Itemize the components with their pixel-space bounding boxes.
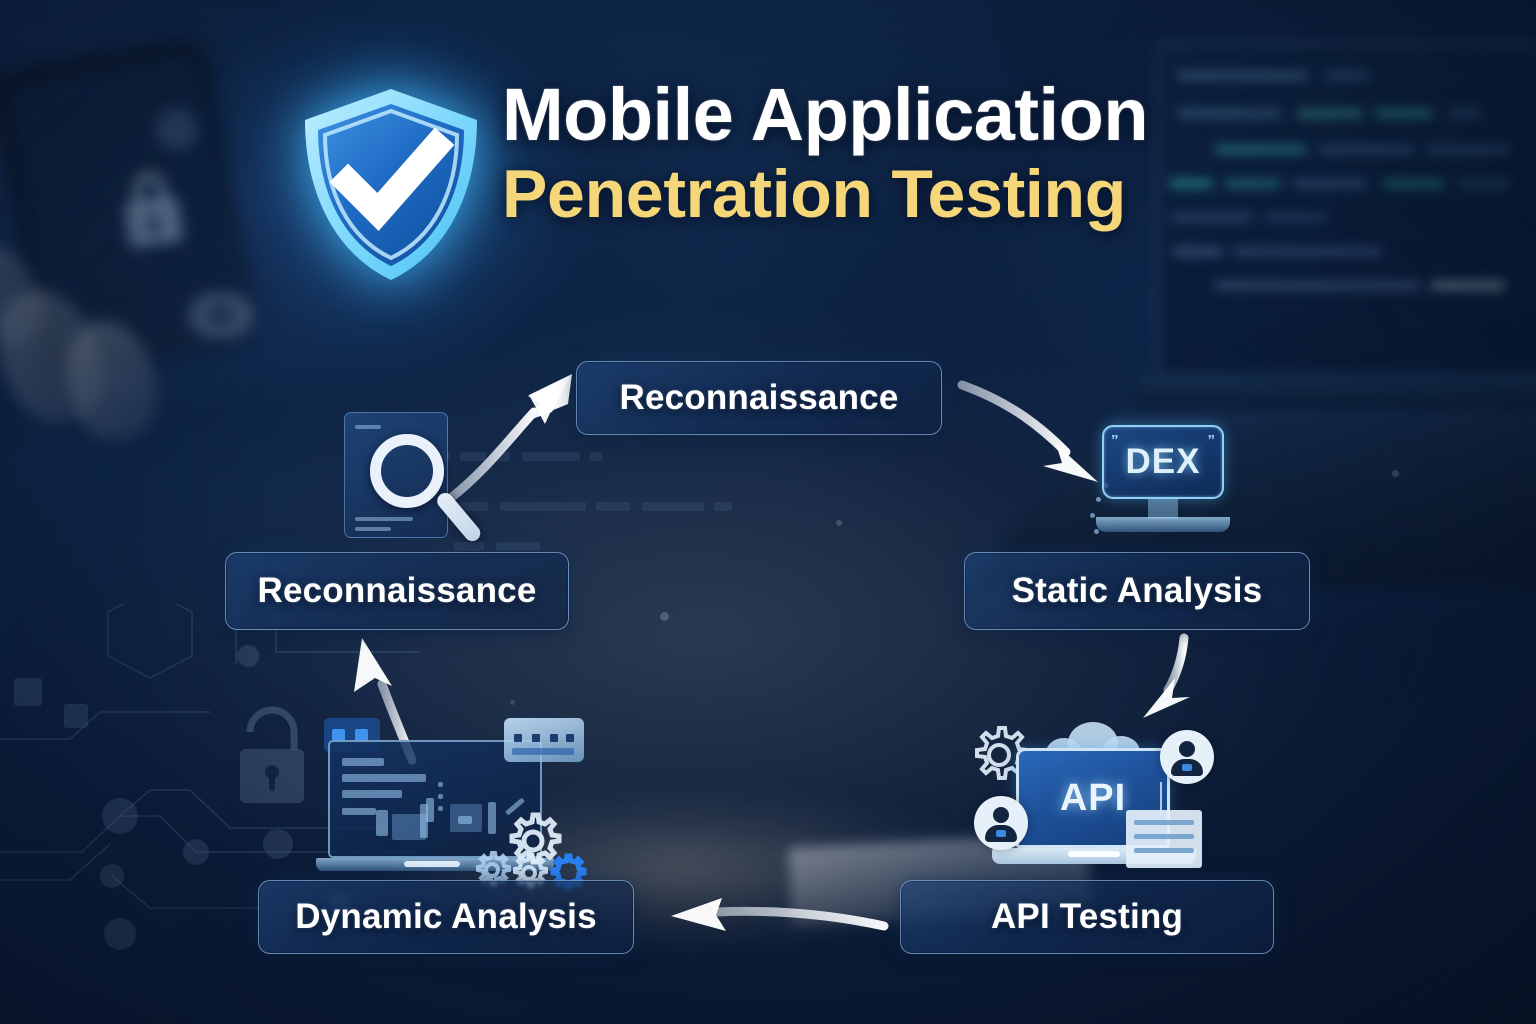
popup-panel — [504, 718, 584, 762]
flow-node-reconnaissance[interactable]: Reconnaissance — [225, 552, 569, 630]
magnifier-lens — [370, 434, 444, 508]
flow-node-label: Reconnaissance — [257, 571, 536, 611]
flow-node-label: API Testing — [991, 897, 1183, 937]
magnifier-document-icon — [336, 408, 496, 558]
monitor-base — [1096, 517, 1230, 532]
flow-node-label: Reconnaissance — [619, 378, 898, 418]
dex-label: DEX — [1126, 442, 1201, 482]
monitor-stand — [1148, 499, 1178, 519]
dashboard-gears-icon — [316, 718, 584, 878]
connector-line — [1160, 782, 1162, 812]
quote-mark-right: ” — [1208, 433, 1216, 448]
flow-node-dynamic-analysis[interactable]: Dynamic Analysis — [258, 880, 634, 954]
flow-node-label: Static Analysis — [1012, 571, 1263, 611]
flow-node-api-testing[interactable]: API Testing — [900, 880, 1274, 954]
title-block: Mobile Application Penetration Testing — [502, 78, 1148, 230]
flow-node-label: Dynamic Analysis — [295, 897, 597, 937]
avatar — [974, 796, 1028, 850]
dex-laptop-icon: ” DEX ” — [1090, 425, 1300, 551]
flow-node-reconnaissance-top[interactable]: Reconnaissance — [576, 361, 942, 435]
infographic-canvas: Mobile Application Penetration Testing — [0, 0, 1536, 1024]
page-title-line2: Penetration Testing — [502, 158, 1148, 230]
page-title-line1: Mobile Application — [502, 78, 1148, 152]
api-laptop-icon: API — [968, 718, 1220, 878]
shield-check-icon — [296, 84, 486, 284]
quote-mark-left: ” — [1111, 433, 1119, 448]
document-icon — [1126, 810, 1202, 868]
api-label: API — [1060, 777, 1126, 820]
flow-node-static-analysis[interactable]: Static Analysis — [964, 552, 1310, 630]
avatar — [1160, 730, 1214, 784]
